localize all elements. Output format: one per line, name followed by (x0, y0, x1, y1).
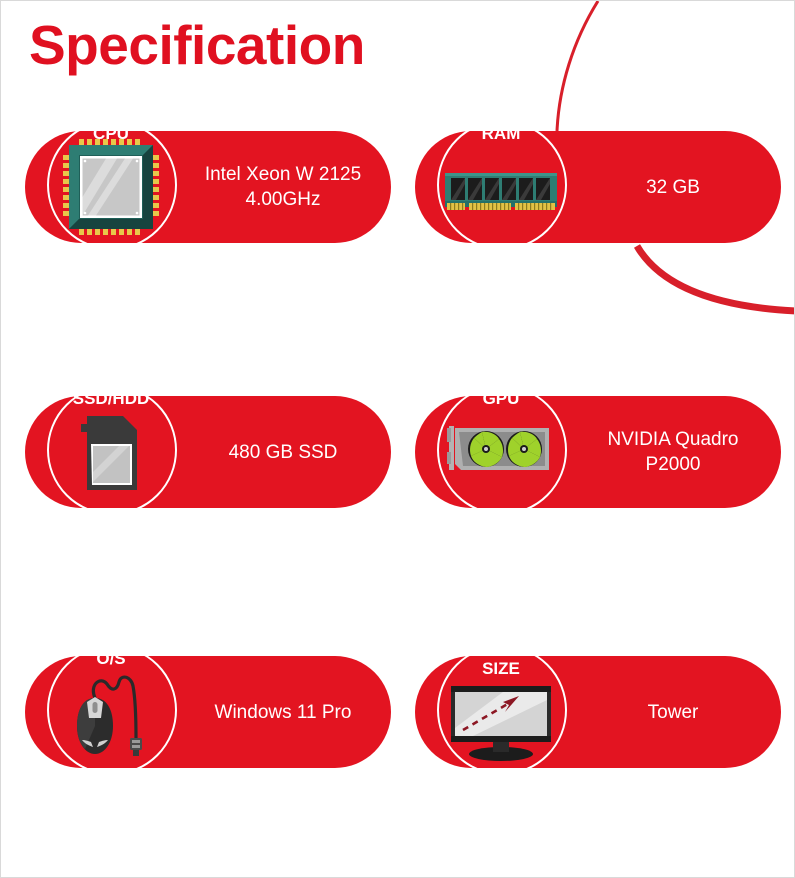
card-value-os: Windows 11 Pro (175, 656, 391, 768)
ram-stick-icon (441, 127, 561, 247)
card-label-pc-size: PC SIZE (441, 642, 561, 678)
card-value-cpu: Intel Xeon W 2125 4.00GHz (175, 131, 391, 243)
spec-card-storage[interactable]: SSD/HDD 480 GB SSD (25, 396, 391, 508)
card-label-ram: RAM (441, 125, 561, 143)
spec-card-os[interactable]: O/S Windows 11 Pro (25, 656, 391, 768)
spec-card-cpu[interactable]: CPU Intel Xeon W 2125 4.00GHz (25, 131, 391, 243)
card-label-os: O/S (51, 650, 171, 668)
card-label-cpu: CPU (51, 125, 171, 143)
cpu-chip-icon (51, 127, 171, 247)
graphics-card-icon (441, 392, 561, 512)
card-label-storage: SSD/HDD (51, 390, 171, 408)
card-value-gpu: NVIDIA Quadro P2000 (565, 396, 781, 508)
spec-card-ram[interactable]: RAM 32 GB (415, 131, 781, 243)
page-title: Specification (29, 15, 365, 76)
memory-card-icon (51, 392, 171, 512)
specification-infographic: Specification (0, 0, 795, 878)
card-value-ram: 32 GB (565, 131, 781, 243)
card-label-gpu: GPU (441, 390, 561, 408)
card-value-storage: 480 GB SSD (175, 396, 391, 508)
spec-card-gpu[interactable]: GPU NVIDIA Quadro P2000 (415, 396, 781, 508)
spec-card-pc-size[interactable]: PC SIZE Tower (415, 656, 781, 768)
card-value-pc-size: Tower (565, 656, 781, 768)
computer-mouse-icon (51, 652, 171, 772)
